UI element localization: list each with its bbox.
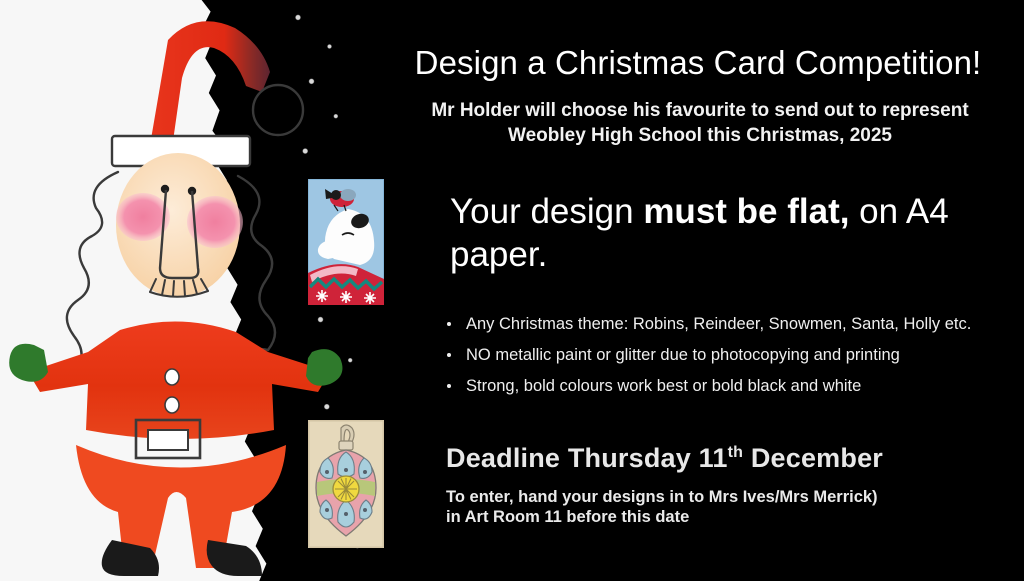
santa-belt-buckle-inner bbox=[148, 430, 188, 450]
santa-boot-right bbox=[207, 540, 262, 576]
santa-mitten-left bbox=[9, 344, 48, 382]
poster-text-column: Design a Christmas Card Competition! Mr … bbox=[372, 0, 1024, 581]
list-item: NO metallic paint or glitter due to phot… bbox=[440, 346, 1000, 365]
bauble-cap bbox=[339, 441, 353, 450]
howto-line-2: in Art Room 11 before this date bbox=[446, 508, 689, 526]
santa-hat bbox=[150, 21, 270, 148]
santa-hat-pompom bbox=[253, 85, 303, 135]
bauble-centre-rays bbox=[335, 478, 357, 500]
subtitle-line-1: Mr Holder will choose his favourite to s… bbox=[431, 100, 968, 121]
subtitle: Mr Holder will choose his favourite to s… bbox=[386, 98, 1014, 148]
deadline-suffix: December bbox=[743, 443, 883, 473]
deadline-heading: Deadline Thursday 11th December bbox=[446, 443, 1016, 474]
santa-mitten-right bbox=[306, 349, 342, 386]
list-item: Strong, bold colours work best or bold b… bbox=[440, 377, 1000, 396]
christmas-card-competition-poster: Design a Christmas Card Competition! Mr … bbox=[0, 0, 1024, 581]
santa-button-bottom bbox=[165, 397, 179, 413]
deadline-prefix: Deadline Thursday 11 bbox=[446, 443, 728, 473]
page-title: Design a Christmas Card Competition! bbox=[372, 44, 1024, 82]
flat-design-statement: Your design must be flat, on A4 paper. bbox=[450, 190, 1010, 276]
submission-instructions: To enter, hand your designs in to Mrs Iv… bbox=[446, 487, 1016, 527]
list-item: Any Christmas theme: Robins, Reindeer, S… bbox=[440, 315, 1000, 334]
statement-before: Your design bbox=[450, 192, 643, 231]
subtitle-line-2: Weobley High School this Christmas, 2025 bbox=[508, 125, 892, 146]
howto-line-1: To enter, hand your designs in to Mrs Iv… bbox=[446, 488, 878, 506]
santa-button-top bbox=[165, 369, 179, 385]
deadline-ordinal: th bbox=[728, 444, 744, 461]
rules-list: Any Christmas theme: Robins, Reindeer, S… bbox=[440, 315, 1000, 408]
statement-emphasis: must be flat, bbox=[643, 192, 849, 231]
santa-illustration bbox=[0, 0, 360, 581]
